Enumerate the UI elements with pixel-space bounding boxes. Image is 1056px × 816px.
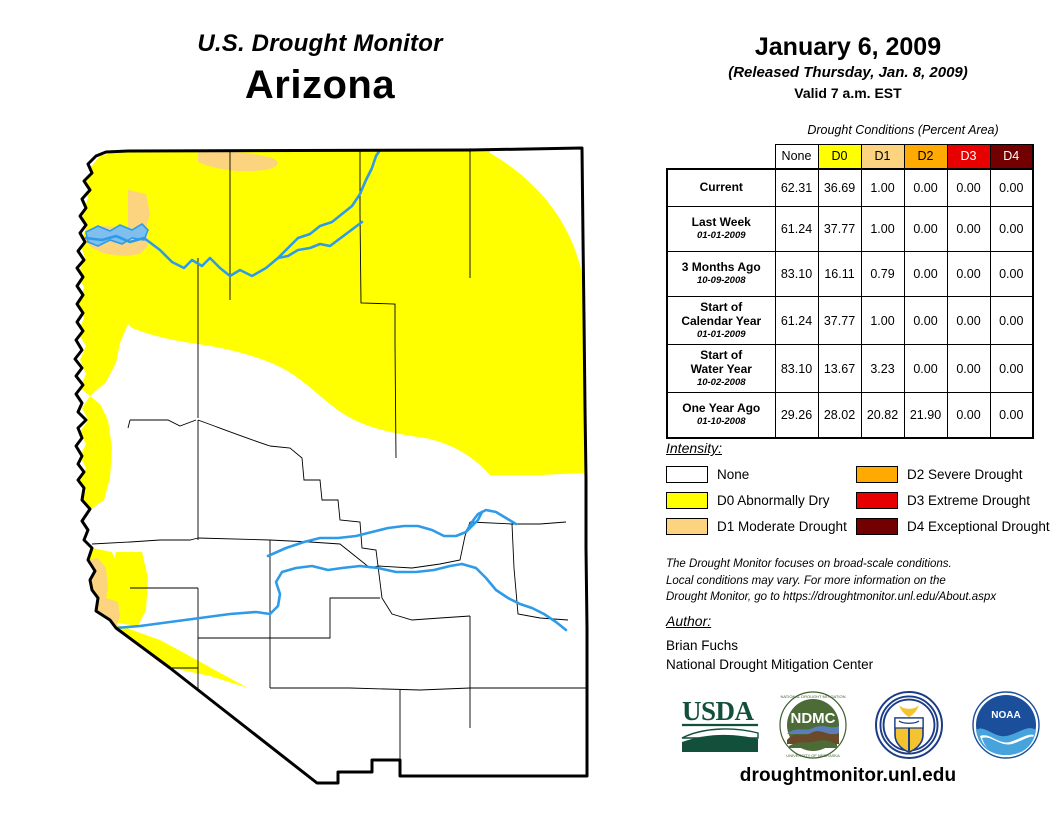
row-label-3-months-ago: 3 Months Ago 10-09-2008 bbox=[667, 252, 775, 297]
cell-d1: 1.00 bbox=[861, 207, 904, 252]
cell-d2: 0.00 bbox=[904, 207, 947, 252]
arizona-drought-map bbox=[20, 128, 630, 808]
column-header-none: None bbox=[775, 145, 818, 169]
map-panel: U.S. Drought Monitor Arizona bbox=[0, 0, 640, 816]
cell-d2: 0.00 bbox=[904, 345, 947, 393]
cell-d4: 0.00 bbox=[990, 169, 1033, 207]
legend-swatch-d1 bbox=[666, 518, 708, 535]
legend-item-d4: D4 Exceptional Drought bbox=[856, 514, 1050, 538]
cell-d3: 0.00 bbox=[947, 297, 990, 345]
disclaimer-line-2: Local conditions may vary. For more info… bbox=[666, 573, 1046, 590]
cell-none: 62.31 bbox=[775, 169, 818, 207]
svg-text:NOAA: NOAA bbox=[991, 710, 1020, 721]
svg-text:USDA: USDA bbox=[682, 696, 755, 726]
table-row: One Year Ago 01-10-2008 29.26 28.02 20.8… bbox=[667, 393, 1033, 438]
cell-d2: 0.00 bbox=[904, 297, 947, 345]
row-label-start-of-water-year: Start of Water Year 10-02-2008 bbox=[667, 345, 775, 393]
disclaimer-text: The Drought Monitor focuses on broad-sca… bbox=[666, 556, 1046, 606]
cell-d3: 0.00 bbox=[947, 169, 990, 207]
cell-d1: 1.00 bbox=[861, 297, 904, 345]
page-title: U.S. Drought Monitor bbox=[0, 30, 640, 58]
cell-d3: 0.00 bbox=[947, 345, 990, 393]
legend-label-d1: D1 Moderate Drought bbox=[717, 519, 847, 534]
svg-text:UNIVERSITY OF NEBRASKA: UNIVERSITY OF NEBRASKA bbox=[786, 753, 840, 758]
svg-text:NATIONAL DROUGHT MITIGATION: NATIONAL DROUGHT MITIGATION bbox=[781, 694, 846, 699]
row-label-start-of-calendar-year: Start of Calendar Year 01-01-2009 bbox=[667, 297, 775, 345]
table-caption: Drought Conditions (Percent Area) bbox=[750, 123, 1056, 137]
release-date: January 6, 2009 bbox=[640, 33, 1056, 62]
ndmc-logo: NDMC NATIONAL DROUGHT MITIGATION UNIVERS… bbox=[777, 690, 849, 760]
cell-none: 83.10 bbox=[775, 345, 818, 393]
table-row: Start of Water Year 10-02-2008 83.10 13.… bbox=[667, 345, 1033, 393]
column-header-d3: D3 bbox=[947, 145, 990, 169]
row-label-current: Current bbox=[667, 169, 775, 207]
row-title: Start of Calendar Year bbox=[668, 301, 775, 329]
cell-d4: 0.00 bbox=[990, 345, 1033, 393]
table-corner-cell bbox=[667, 145, 775, 169]
legend-item-d1: D1 Moderate Drought bbox=[666, 514, 847, 538]
row-title: One Year Ago bbox=[668, 402, 775, 416]
legend-swatch-d3 bbox=[856, 492, 898, 509]
legend-item-d0: D0 Abnormally Dry bbox=[666, 488, 847, 512]
table-row: 3 Months Ago 10-09-2008 83.10 16.11 0.79… bbox=[667, 252, 1033, 297]
cell-d0: 28.02 bbox=[818, 393, 861, 438]
noaa-logo: NOAA bbox=[970, 690, 1042, 760]
legend-column-right: D2 Severe Drought D3 Extreme Drought D4 … bbox=[856, 462, 1050, 540]
column-header-d4: D4 bbox=[990, 145, 1033, 169]
legend-item-none: None bbox=[666, 462, 847, 486]
website-url: droughtmonitor.unl.edu bbox=[640, 765, 1056, 787]
cell-d0: 37.77 bbox=[818, 297, 861, 345]
row-label-one-year-ago: One Year Ago 01-10-2008 bbox=[667, 393, 775, 438]
row-title: 3 Months Ago bbox=[668, 261, 775, 275]
column-header-d0: D0 bbox=[818, 145, 861, 169]
row-title: Start of Water Year bbox=[668, 349, 775, 377]
cell-d2: 0.00 bbox=[904, 252, 947, 297]
legend-column-left: None D0 Abnormally Dry D1 Moderate Droug… bbox=[666, 462, 847, 540]
column-header-d2: D2 bbox=[904, 145, 947, 169]
cell-d3: 0.00 bbox=[947, 393, 990, 438]
author-name: Brian Fuchs bbox=[666, 636, 738, 656]
intensity-heading: Intensity: bbox=[666, 440, 722, 456]
cell-d3: 0.00 bbox=[947, 207, 990, 252]
row-title: Last Week bbox=[668, 216, 775, 230]
row-date: 01-01-2009 bbox=[668, 230, 775, 241]
cell-none: 83.10 bbox=[775, 252, 818, 297]
table-row: Last Week 01-01-2009 61.24 37.77 1.00 0.… bbox=[667, 207, 1033, 252]
cell-none: 61.24 bbox=[775, 207, 818, 252]
legend-label-d2: D2 Severe Drought bbox=[907, 467, 1023, 482]
legend-label-none: None bbox=[717, 467, 749, 482]
cell-d4: 0.00 bbox=[990, 207, 1033, 252]
table-header-row: None D0 D1 D2 D3 D4 bbox=[667, 145, 1033, 169]
legend-swatch-none bbox=[666, 466, 708, 483]
row-date: 01-01-2009 bbox=[668, 329, 775, 340]
legend-label-d0: D0 Abnormally Dry bbox=[717, 493, 830, 508]
cell-d0: 36.69 bbox=[818, 169, 861, 207]
cell-d4: 0.00 bbox=[990, 393, 1033, 438]
usdc-noaa-seal-logo bbox=[873, 690, 945, 760]
cell-d0: 13.67 bbox=[818, 345, 861, 393]
usda-logo: USDA bbox=[680, 694, 762, 756]
svg-text:NDMC: NDMC bbox=[791, 710, 836, 727]
info-panel: January 6, 2009 (Released Thursday, Jan.… bbox=[640, 0, 1056, 816]
legend-item-d2: D2 Severe Drought bbox=[856, 462, 1050, 486]
legend-swatch-d4 bbox=[856, 518, 898, 535]
released-note: (Released Thursday, Jan. 8, 2009) bbox=[640, 64, 1056, 81]
author-heading: Author: bbox=[666, 613, 711, 629]
state-title: Arizona bbox=[0, 63, 640, 108]
cell-d0: 16.11 bbox=[818, 252, 861, 297]
legend-label-d3: D3 Extreme Drought bbox=[907, 493, 1030, 508]
cell-d1: 20.82 bbox=[861, 393, 904, 438]
cell-d1: 1.00 bbox=[861, 169, 904, 207]
legend-swatch-d2 bbox=[856, 466, 898, 483]
cell-d2: 0.00 bbox=[904, 169, 947, 207]
cell-d2: 21.90 bbox=[904, 393, 947, 438]
cell-d1: 0.79 bbox=[861, 252, 904, 297]
disclaimer-line-1: The Drought Monitor focuses on broad-sca… bbox=[666, 556, 1046, 573]
table-row: Start of Calendar Year 01-01-2009 61.24 … bbox=[667, 297, 1033, 345]
drought-conditions-table: None D0 D1 D2 D3 D4 Current 62.31 36.69 … bbox=[666, 144, 1034, 439]
legend-swatch-d0 bbox=[666, 492, 708, 509]
row-date: 01-10-2008 bbox=[668, 416, 775, 427]
cell-none: 61.24 bbox=[775, 297, 818, 345]
cell-d4: 0.00 bbox=[990, 297, 1033, 345]
cell-d3: 0.00 bbox=[947, 252, 990, 297]
cell-d0: 37.77 bbox=[818, 207, 861, 252]
cell-none: 29.26 bbox=[775, 393, 818, 438]
disclaimer-line-3: Drought Monitor, go to https://droughtmo… bbox=[666, 589, 1046, 606]
table-row: Current 62.31 36.69 1.00 0.00 0.00 0.00 bbox=[667, 169, 1033, 207]
row-date: 10-02-2008 bbox=[668, 377, 775, 388]
legend-label-d4: D4 Exceptional Drought bbox=[907, 519, 1050, 534]
cell-d4: 0.00 bbox=[990, 252, 1033, 297]
column-header-d1: D1 bbox=[861, 145, 904, 169]
row-title: Current bbox=[668, 181, 775, 195]
cell-d1: 3.23 bbox=[861, 345, 904, 393]
author-organization: National Drought Mitigation Center bbox=[666, 655, 873, 675]
row-date: 10-09-2008 bbox=[668, 275, 775, 286]
logo-row: USDA NDMC NATIONAL DROUGHT MITIGATION UN… bbox=[660, 688, 1056, 760]
row-label-last-week: Last Week 01-01-2009 bbox=[667, 207, 775, 252]
drought-monitor-page: U.S. Drought Monitor Arizona bbox=[0, 0, 1056, 816]
valid-time: Valid 7 a.m. EST bbox=[640, 85, 1056, 101]
legend-item-d3: D3 Extreme Drought bbox=[856, 488, 1050, 512]
